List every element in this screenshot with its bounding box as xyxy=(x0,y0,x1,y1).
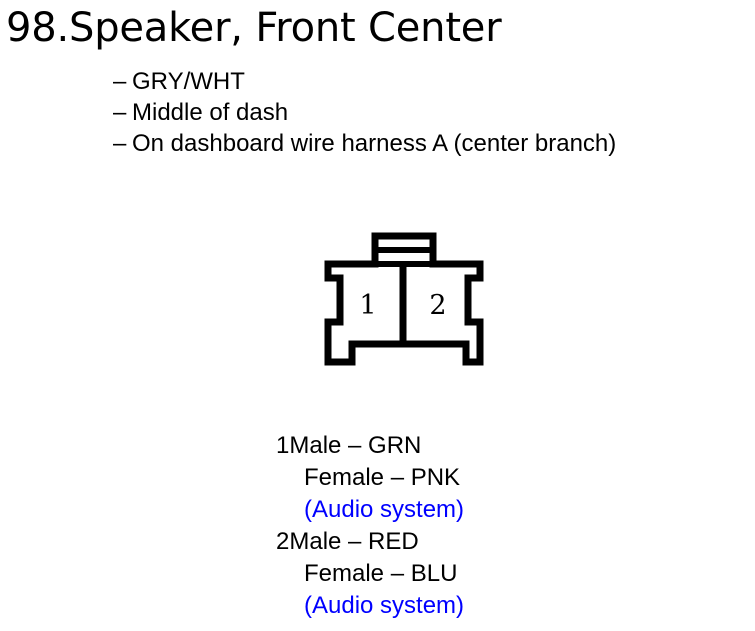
cavity-label-1: 1 xyxy=(359,290,376,321)
page-title: 98.Speaker, Front Center xyxy=(6,4,501,52)
dash-bullet-icon: – xyxy=(113,128,132,159)
pin-female-wire-color: Female – BLU xyxy=(276,558,696,590)
pin-legend: 1Male – GRN Female – PNK (Audio system) … xyxy=(276,430,696,622)
pin-male-wire-color: 1Male – GRN xyxy=(276,430,696,462)
pin-female-wire-color: Female – PNK xyxy=(276,462,696,494)
pin-legend-block: 2Male – RED Female – BLU (Audio system) xyxy=(276,526,696,622)
list-item-label: Middle of dash xyxy=(132,97,288,128)
list-item: – GRY/WHT xyxy=(113,66,755,97)
list-item: – Middle of dash xyxy=(113,97,755,128)
dash-bullet-icon: – xyxy=(113,97,132,128)
dash-bullet-icon: – xyxy=(113,66,132,97)
cavity-label-2: 2 xyxy=(429,290,446,321)
list-item: – On dashboard wire harness A (center br… xyxy=(113,128,755,159)
connector-diagram: 1 2 xyxy=(318,228,490,372)
list-item-label: On dashboard wire harness A (center bran… xyxy=(132,128,616,159)
connector-outline-icon: 1 2 xyxy=(318,228,490,372)
list-item-label: GRY/WHT xyxy=(132,66,245,97)
pin-male-wire-color: 2Male – RED xyxy=(276,526,696,558)
connector-detail-list: – GRY/WHT – Middle of dash – On dashboar… xyxy=(113,66,755,159)
pin-system-label: (Audio system) xyxy=(276,590,696,622)
pin-legend-block: 1Male – GRN Female – PNK (Audio system) xyxy=(276,430,696,526)
pin-system-label: (Audio system) xyxy=(276,494,696,526)
